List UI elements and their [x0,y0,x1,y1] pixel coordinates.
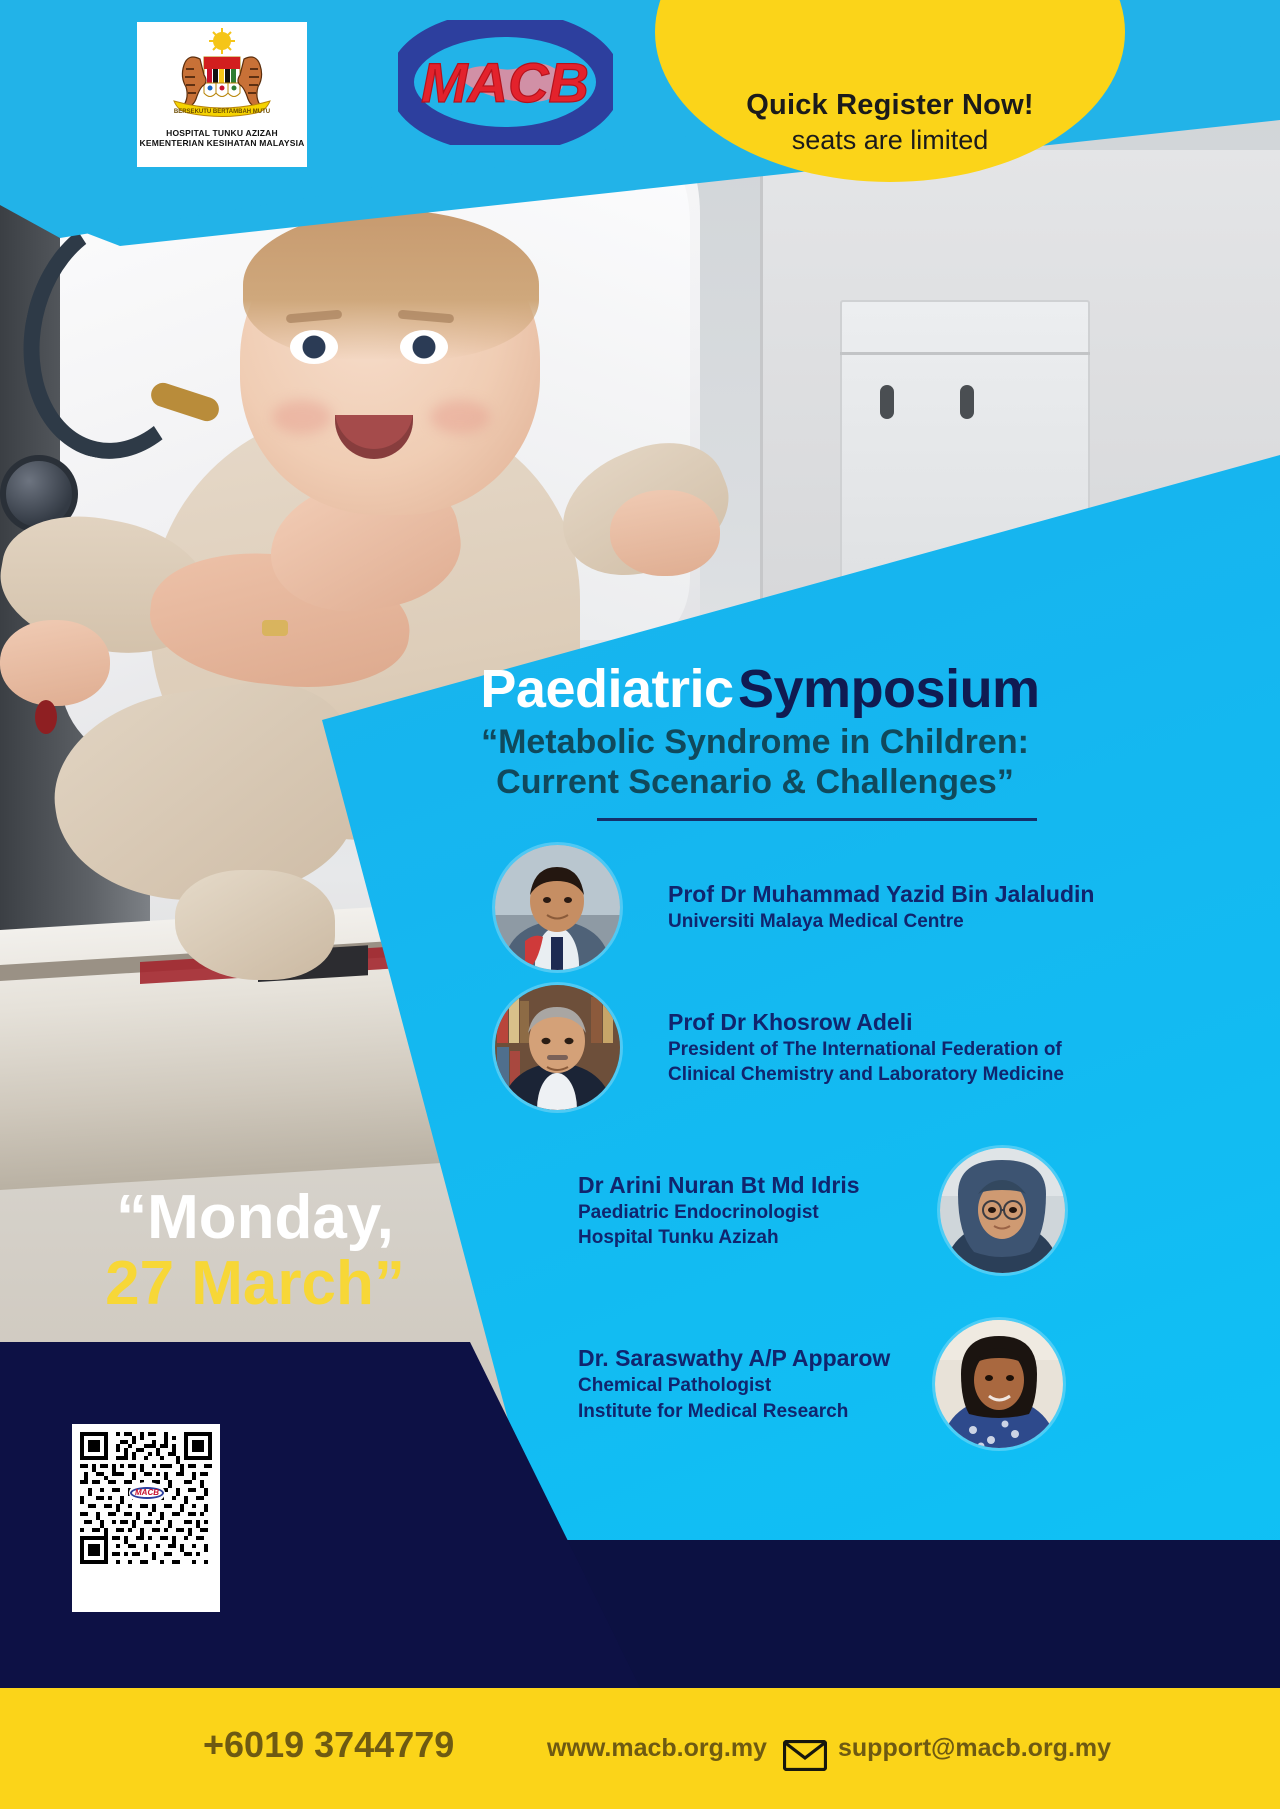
baby-hand-right [610,490,720,576]
footer-phone[interactable]: +6019 3744779 [203,1724,454,1766]
baby-eye-left [290,330,338,364]
cabinet-handle-right [960,385,974,419]
speaker-info: Prof Dr Khosrow Adeli President of The I… [668,1009,1064,1086]
speaker-info: Dr. Saraswathy A/P Apparow Chemical Path… [578,1345,890,1422]
macb-logo-icon: MACB [398,20,613,145]
speaker-photo-saraswathy [935,1320,1063,1448]
footer-website[interactable]: www.macb.org.my [547,1734,767,1763]
envelope-icon [783,1740,827,1771]
speaker-info: Prof Dr Muhammad Yazid Bin Jalaludin Uni… [668,881,1094,933]
subtitle-line-2: Current Scenario & Challenges” [395,762,1115,802]
hospital-logo-caption-2: KEMENTERIAN KESIHATAN MALAYSIA [140,138,305,148]
speaker-name: Prof Dr Muhammad Yazid Bin Jalaludin [668,881,1094,908]
speaker-name: Prof Dr Khosrow Adeli [668,1009,1064,1036]
speaker-item: Prof Dr Muhammad Yazid Bin Jalaludin Uni… [495,845,1094,970]
baby-hand-left [0,620,110,706]
hospital-logo-caption-1: HOSPITAL TUNKU AZIZAH [166,128,278,138]
speaker-item: Prof Dr Khosrow Adeli President of The I… [495,985,1064,1110]
speaker-photo-yazid [495,845,620,970]
speaker-affiliation-2: Hospital Tunku Azizah [578,1226,860,1249]
baby-held-object [35,700,57,734]
svg-text:MACB: MACB [421,51,589,114]
wedding-ring [262,620,288,636]
date-line-2: 27 March” [40,1251,470,1317]
title-word-symposium: Symposium [738,659,1040,719]
title-word-paediatric: Paediatric [480,659,733,719]
cabinet-divider [840,352,1090,355]
baby-cheek-right [430,400,490,434]
page-subtitle: “Metabolic Syndrome in Children: Current… [395,722,1115,802]
poster-root: BERSEKUTU BERTAMBAH MUTU HOSPITAL TUNKU … [0,0,1280,1809]
qr-center-logo: MACB [129,1482,165,1504]
speaker-affiliation-1: President of The International Federatio… [668,1038,1064,1061]
cabinet [840,300,1090,600]
malaysia-coat-of-arms-icon: BERSEKUTU BERTAMBAH MUTU [152,27,292,127]
speaker-photo-adeli [495,985,620,1110]
speaker-photo-arini [940,1148,1065,1273]
subtitle-line-1: “Metabolic Syndrome in Children: [395,722,1115,762]
baby-cheek-left [272,400,332,434]
event-date: “Monday, 27 March” [40,1185,470,1316]
speaker-affiliation-1: Universiti Malaya Medical Centre [668,910,1094,933]
speaker-name: Dr Arini Nuran Bt Md Idris [578,1172,860,1199]
qr-center-logo-text: MACB [130,1487,164,1499]
speaker-affiliation-1: Chemical Pathologist [578,1374,890,1397]
baby-foot [175,870,335,980]
page-title: Paediatric Symposium [410,658,1110,720]
footer-email[interactable]: support@macb.org.my [838,1734,1111,1763]
baby-eye-right [400,330,448,364]
speaker-affiliation-2: Clinical Chemistry and Laboratory Medici… [668,1063,1064,1086]
speaker-name: Dr. Saraswathy A/P Apparow [578,1345,890,1372]
cabinet-handle-left [880,385,894,419]
speaker-affiliation-1: Paediatric Endocrinologist [578,1201,860,1224]
svg-text:BERSEKUTU BERTAMBAH MUTU: BERSEKUTU BERTAMBAH MUTU [174,109,270,115]
register-badge-line1: Quick Register Now! [746,89,1033,122]
qr-code[interactable]: MACB [72,1424,220,1612]
date-line-1: “Monday, [40,1185,470,1251]
speaker-item: Dr Arini Nuran Bt Md Idris Paediatric En… [578,1148,1065,1273]
register-badge-line2: seats are limited [792,125,989,156]
speaker-affiliation-2: Institute for Medical Research [578,1400,890,1423]
speaker-info: Dr Arini Nuran Bt Md Idris Paediatric En… [578,1172,860,1249]
hospital-logo: BERSEKUTU BERTAMBAH MUTU HOSPITAL TUNKU … [137,22,307,167]
qr-code-icon: MACB [80,1432,212,1564]
speaker-item: Dr. Saraswathy A/P Apparow Chemical Path… [578,1320,1063,1448]
subtitle-divider [597,818,1037,821]
baby-hair [243,210,539,360]
